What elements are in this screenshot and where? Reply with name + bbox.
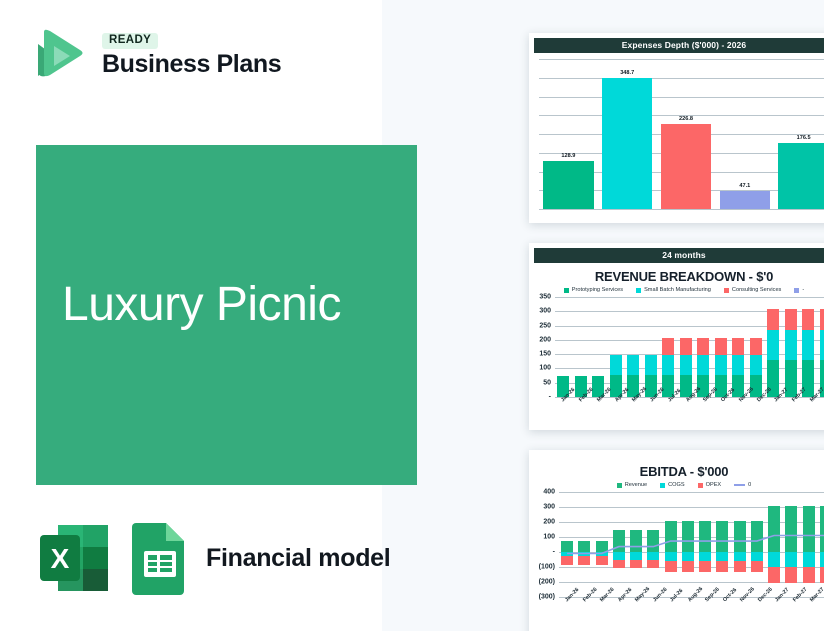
gridline xyxy=(555,297,824,298)
revenue-chart-header: 24 months xyxy=(534,248,824,263)
microsoft-excel-icon: X xyxy=(36,521,114,595)
bar-segment xyxy=(732,338,744,355)
bar-value-label: 226.8 xyxy=(679,116,693,122)
brand-name: Business Plans xyxy=(102,52,281,77)
bar-segment xyxy=(697,338,709,355)
legend-item: Revenue xyxy=(617,482,647,488)
legend-item: - xyxy=(794,287,804,293)
bar xyxy=(543,161,594,209)
svg-text:X: X xyxy=(51,543,70,574)
ebitda-legend: RevenueCOGSOPEX0 xyxy=(529,482,824,488)
bar-segment xyxy=(697,355,709,375)
file-format-row: X Financial model xyxy=(36,521,390,595)
bar-segment xyxy=(732,355,744,375)
legend-swatch xyxy=(617,483,622,488)
legend-swatch xyxy=(636,288,641,293)
bar xyxy=(720,191,771,209)
bar xyxy=(778,143,824,209)
gridline xyxy=(539,59,824,60)
ebitda-x-axis: Jan-26Feb-26Mar-26Apr-26May-26Jun-26Jul-… xyxy=(559,597,824,627)
bar-segment xyxy=(610,355,622,375)
chart-card-revenue[interactable]: 24 months REVENUE BREAKDOWN - $'0 Protot… xyxy=(529,243,824,430)
bar-segment xyxy=(750,355,762,375)
legend-item: OPEX xyxy=(698,482,722,488)
chart-card-expenses[interactable]: Expenses Depth ($'000) - 2026 128.9348.7… xyxy=(529,33,824,223)
y-axis-tick: 100 xyxy=(543,534,555,541)
y-axis-tick: 150 xyxy=(539,351,551,358)
legend-item: Small Batch Manufacturing xyxy=(636,287,711,293)
bar-value-label: 176.5 xyxy=(797,135,811,141)
bar-segment xyxy=(767,330,779,360)
y-axis-tick: 50 xyxy=(543,379,551,386)
gridline xyxy=(539,209,824,210)
bar-segment xyxy=(627,355,639,375)
legend-item: Consulting Services xyxy=(724,287,781,293)
legend-item: 0 xyxy=(734,482,751,488)
y-axis-tick: (100) xyxy=(539,564,555,571)
legend-swatch xyxy=(724,288,729,293)
bar-segment xyxy=(820,330,824,360)
bar-segment xyxy=(802,309,814,330)
bar-value-label: 348.7 xyxy=(620,70,634,76)
bar-segment xyxy=(680,355,692,375)
chart-card-ebitda[interactable]: EBITDA - $'000 RevenueCOGSOPEX0 40030020… xyxy=(529,450,824,631)
y-axis-tick: 200 xyxy=(543,519,555,526)
legend-label: Small Batch Manufacturing xyxy=(644,287,711,293)
legend-item: COGS xyxy=(660,482,684,488)
revenue-legend: Prototyping ServicesSmall Batch Manufact… xyxy=(529,287,824,293)
financial-model-label: Financial model xyxy=(206,544,390,573)
y-axis-tick: 300 xyxy=(539,308,551,315)
bar-segment xyxy=(820,309,824,330)
legend-swatch xyxy=(564,288,569,293)
bar-value-label: 128.9 xyxy=(561,153,575,159)
bar-segment xyxy=(715,355,727,375)
y-axis-tick: - xyxy=(549,394,551,401)
legend-label: Prototyping Services xyxy=(572,287,623,293)
revenue-chart-title: REVENUE BREAKDOWN - $'0 xyxy=(529,269,824,284)
legend-label: Revenue xyxy=(625,482,647,488)
bar-value-label: 47.1 xyxy=(739,183,750,189)
bar-segment xyxy=(750,338,762,355)
legend-label: 0 xyxy=(748,482,751,488)
y-axis-tick: (300) xyxy=(539,594,555,601)
bar-segment xyxy=(715,338,727,355)
y-axis-tick: (200) xyxy=(539,579,555,586)
hero-green-panel: Luxury Picnic xyxy=(36,145,417,485)
expenses-plot-area: 128.9348.7226.847.1176.5 xyxy=(539,59,824,209)
trend-line xyxy=(559,492,824,597)
legend-item: Prototyping Services xyxy=(564,287,623,293)
revenue-x-axis: Jan-26Feb-26Mar-26Apr-26May-26Jun-26Jul-… xyxy=(555,397,824,427)
legend-swatch xyxy=(734,484,745,486)
bar-segment xyxy=(680,338,692,355)
bar-segment xyxy=(662,338,674,355)
gridline xyxy=(539,97,824,98)
bar-segment xyxy=(785,330,797,360)
ready-badge: READY xyxy=(102,33,158,50)
brand-text: READY Business Plans xyxy=(102,33,281,78)
legend-swatch xyxy=(660,483,665,488)
page-title: Luxury Picnic xyxy=(62,280,403,330)
y-axis-tick: 350 xyxy=(539,294,551,301)
legend-swatch xyxy=(794,288,799,293)
y-axis-tick: 200 xyxy=(539,336,551,343)
slide-canvas: READY Business Plans Luxury Picnic X xyxy=(0,0,824,631)
legend-label: OPEX xyxy=(706,482,722,488)
bar-segment xyxy=(767,309,779,330)
brand-logo-block: READY Business Plans xyxy=(30,26,281,84)
bar xyxy=(661,124,712,209)
legend-swatch xyxy=(698,483,703,488)
bar-segment xyxy=(645,355,657,375)
y-axis-tick: 250 xyxy=(539,322,551,329)
bar-segment xyxy=(785,309,797,330)
y-axis-tick: - xyxy=(553,549,555,556)
play-triangle-logo-icon xyxy=(30,26,88,84)
legend-label: COGS xyxy=(668,482,684,488)
y-axis-tick: 100 xyxy=(539,365,551,372)
y-axis-tick: 400 xyxy=(543,489,555,496)
ebitda-chart-title: EBITDA - $'000 xyxy=(529,464,824,479)
google-sheets-icon xyxy=(130,521,190,595)
bar-segment xyxy=(802,330,814,360)
gridline xyxy=(539,78,824,79)
ebitda-plot-area: 400300200100-(100)(200)(300) xyxy=(559,492,824,597)
expenses-chart-header: Expenses Depth ($'000) - 2026 xyxy=(534,38,824,53)
legend-label: - xyxy=(802,287,804,293)
bar xyxy=(602,78,653,209)
revenue-plot-area: 35030025020015010050- xyxy=(555,297,824,397)
bar-segment xyxy=(662,355,674,375)
legend-label: Consulting Services xyxy=(732,287,781,293)
y-axis-tick: 300 xyxy=(543,504,555,511)
